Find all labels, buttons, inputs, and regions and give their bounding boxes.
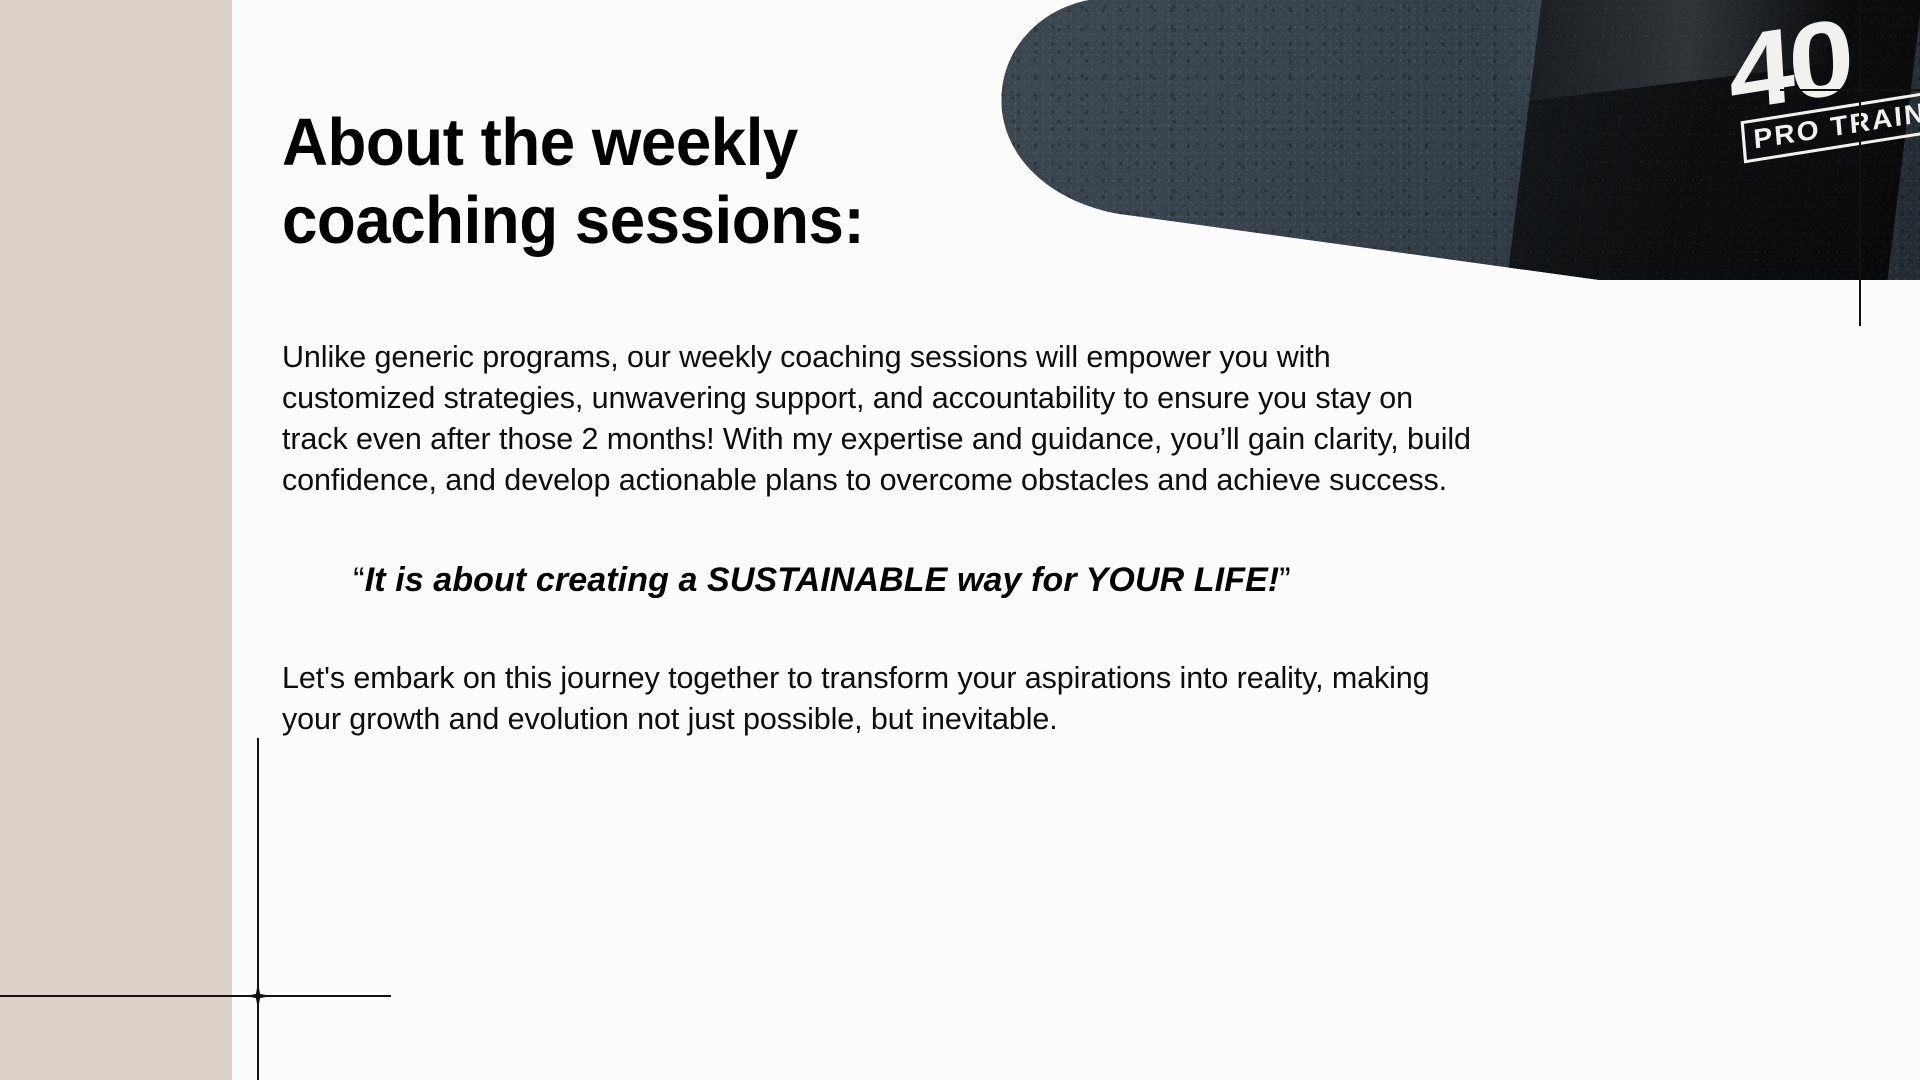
slide-content: About the weekly coaching sessions: Unli… [282, 0, 1742, 740]
guide-line-vertical-left [257, 738, 259, 1080]
guide-line-vertical-right [1859, 0, 1861, 326]
mat-brand-mark: 40 PRO TRAIN [1726, 2, 1920, 163]
page-title: About the weekly coaching sessions: [282, 104, 947, 261]
intro-paragraph: Unlike generic programs, our weekly coac… [282, 337, 1474, 501]
close-quote-mark: ” [1279, 561, 1290, 599]
pull-quote-text: It is about creating a SUSTAINABLE way f… [365, 561, 1280, 599]
guide-line-horizontal-right [1780, 89, 1920, 91]
left-accent-panel [0, 0, 232, 1080]
guide-line-horizontal-left [0, 995, 391, 997]
pull-quote: “It is about creating a SUSTAINABLE way … [282, 560, 1362, 601]
open-quote-mark: “ [353, 561, 364, 599]
closing-paragraph: Let's embark on this journey together to… [282, 658, 1432, 740]
